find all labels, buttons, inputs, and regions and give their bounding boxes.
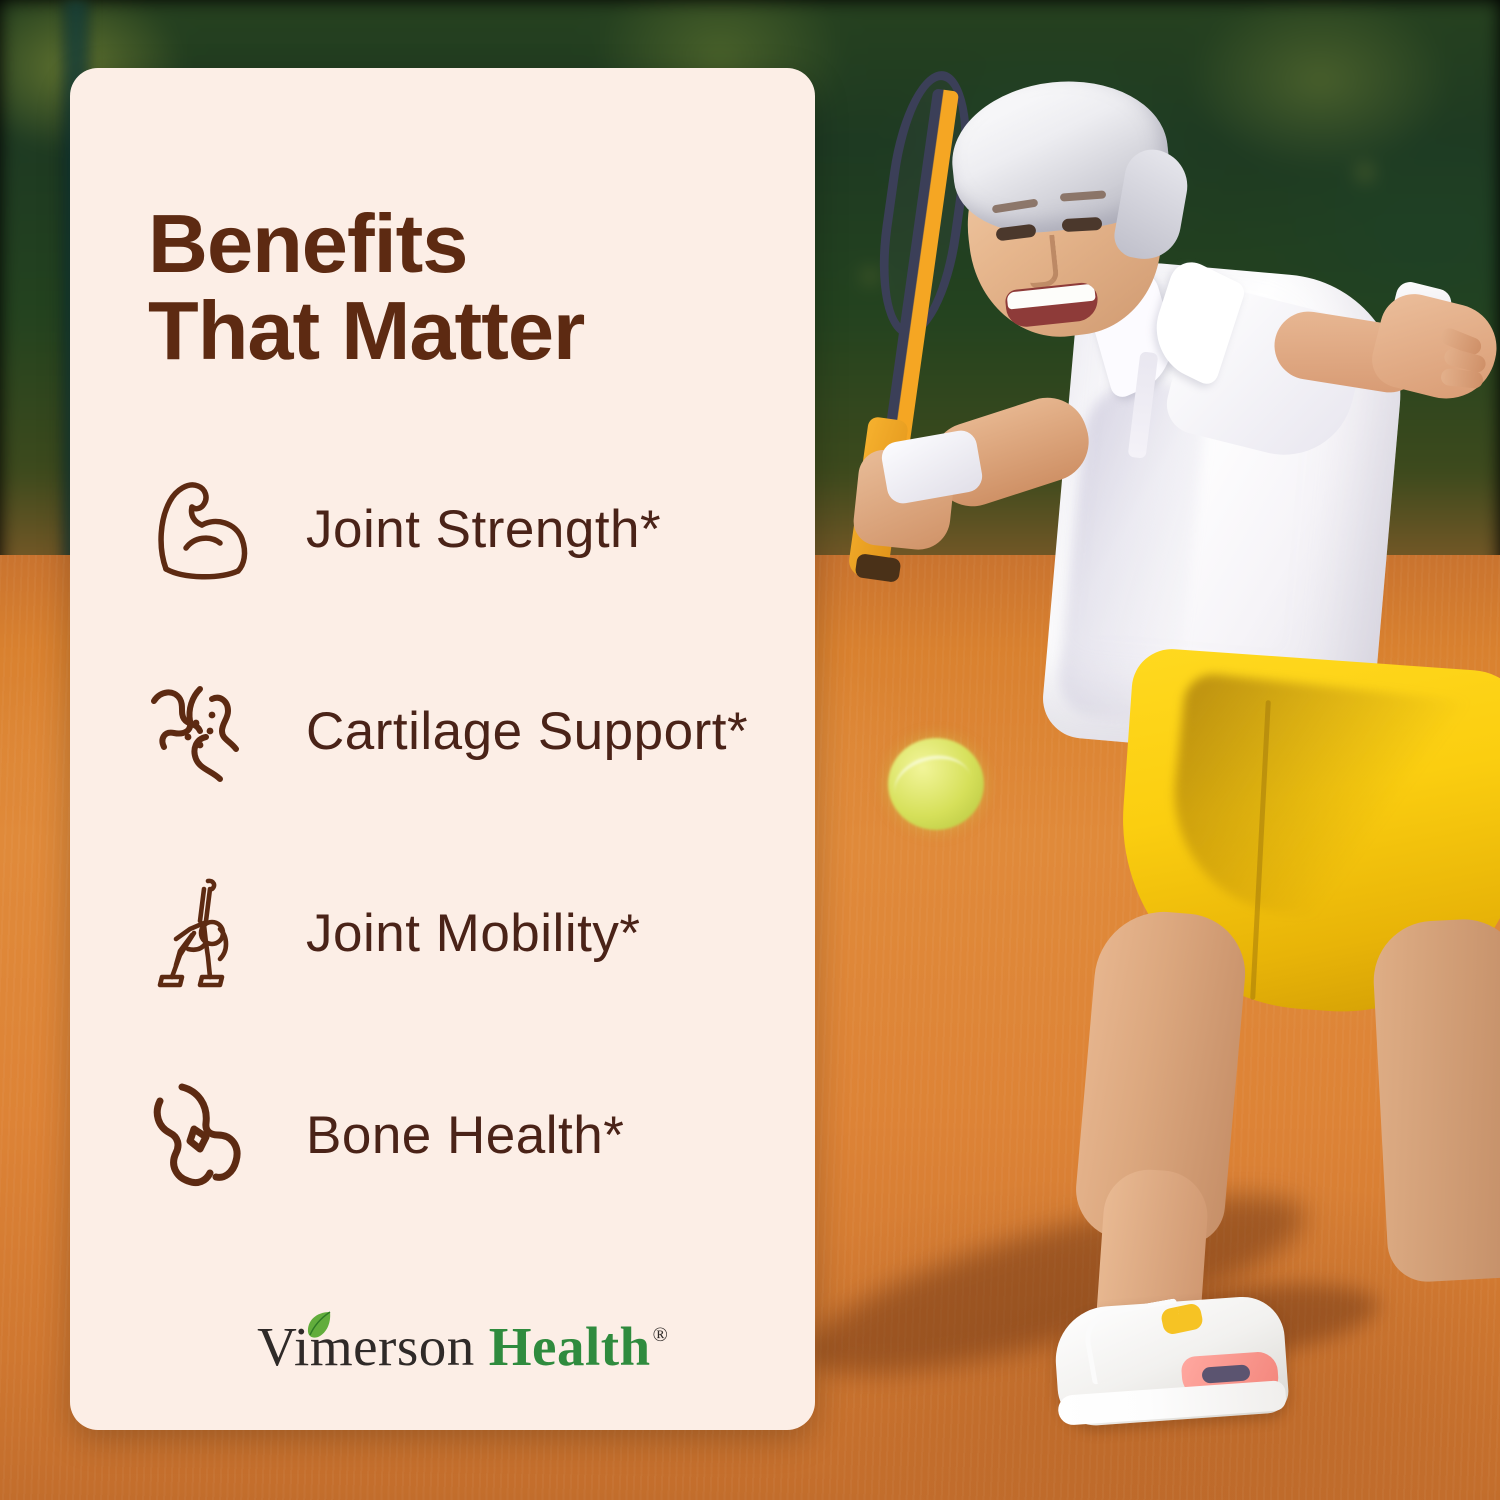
benefit-label: Cartilage Support* <box>306 701 748 762</box>
page-title: Benefits That Matter <box>148 200 584 374</box>
benefit-label: Joint Strength* <box>306 499 661 560</box>
benefit-item-joint-strength: Joint Strength* <box>148 428 775 630</box>
stretching-figure-icon <box>148 875 264 991</box>
tennis-ball <box>888 738 984 830</box>
benefit-item-bone-health: Bone Health* <box>148 1034 775 1236</box>
brand-logo: Vimerson Health ® <box>148 1315 775 1378</box>
racket-butt-cap <box>855 553 902 583</box>
brand-name-primary: Vimerson <box>257 1315 475 1378</box>
bone-joint-icon <box>148 1077 264 1193</box>
flexed-bicep-icon <box>148 471 264 587</box>
leaf-icon <box>306 1310 332 1340</box>
benefits-card: Benefits That Matter Joint Strength* <box>70 68 815 1430</box>
benefit-item-joint-mobility: Joint Mobility* <box>148 832 775 1034</box>
eye <box>1062 217 1103 232</box>
registered-trademark-mark: ® <box>653 1324 668 1347</box>
brand-name-secondary: Health <box>489 1315 651 1378</box>
benefit-label: Joint Mobility* <box>306 903 640 964</box>
benefits-list: Joint Strength* <box>148 428 775 1236</box>
back-leg <box>1371 916 1500 1283</box>
nose <box>1025 235 1059 289</box>
product-benefits-graphic: Benefits That Matter Joint Strength* <box>0 0 1500 1500</box>
benefit-item-cartilage-support: Cartilage Support* <box>148 630 775 832</box>
sneaker-air-unit <box>1202 1364 1251 1383</box>
benefit-label: Bone Health* <box>306 1105 624 1166</box>
cartilage-joint-icon <box>148 673 264 789</box>
